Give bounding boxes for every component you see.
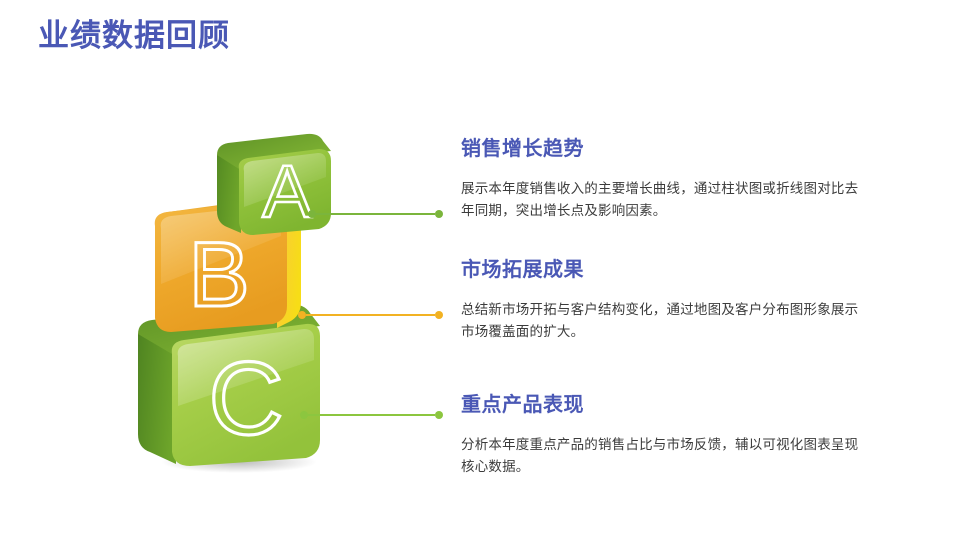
- connector-dot-start-2: [298, 311, 306, 319]
- connector-dot-end-3: [435, 411, 443, 419]
- content-section-1: 销售增长趋势 展示本年度销售收入的主要增长曲线，通过柱状图或折线图对比去年同期，…: [461, 137, 865, 222]
- section-heading-1: 销售增长趋势: [461, 137, 865, 162]
- section-body-2: 总结新市场开拓与客户结构变化，通过地图及客户分布图形象展示市场覆盖面的扩大。: [461, 299, 865, 343]
- connector-line-3: [300, 410, 443, 420]
- connector-dot-start-3: [300, 411, 308, 419]
- cube-letter-c: C: [208, 341, 283, 457]
- connector-line-1: [308, 209, 443, 219]
- page-title: 业绩数据回顾: [38, 17, 230, 54]
- section-body-3: 分析本年度重点产品的销售占比与市场反馈，辅以可视化图表呈现核心数据。: [461, 434, 865, 478]
- connector-dot-end-2: [435, 311, 443, 319]
- cube-a: A: [215, 133, 335, 243]
- connector-stroke-1: [316, 213, 435, 215]
- section-heading-3: 重点产品表现: [461, 393, 865, 418]
- content-section-3: 重点产品表现 分析本年度重点产品的销售占比与市场反馈，辅以可视化图表呈现核心数据…: [461, 393, 865, 478]
- connector-stroke-3: [308, 414, 435, 416]
- cube-letter-a: A: [262, 150, 312, 233]
- section-body-1: 展示本年度销售收入的主要增长曲线，通过柱状图或折线图对比去年同期，突出增长点及影…: [461, 178, 865, 222]
- section-heading-2: 市场拓展成果: [461, 258, 865, 283]
- connector-line-2: [298, 310, 443, 320]
- connector-dot-end-1: [435, 210, 443, 218]
- connector-stroke-2: [306, 314, 435, 316]
- connector-dot-start-1: [308, 210, 316, 218]
- content-section-2: 市场拓展成果 总结新市场开拓与客户结构变化，通过地图及客户分布图形象展示市场覆盖…: [461, 258, 865, 343]
